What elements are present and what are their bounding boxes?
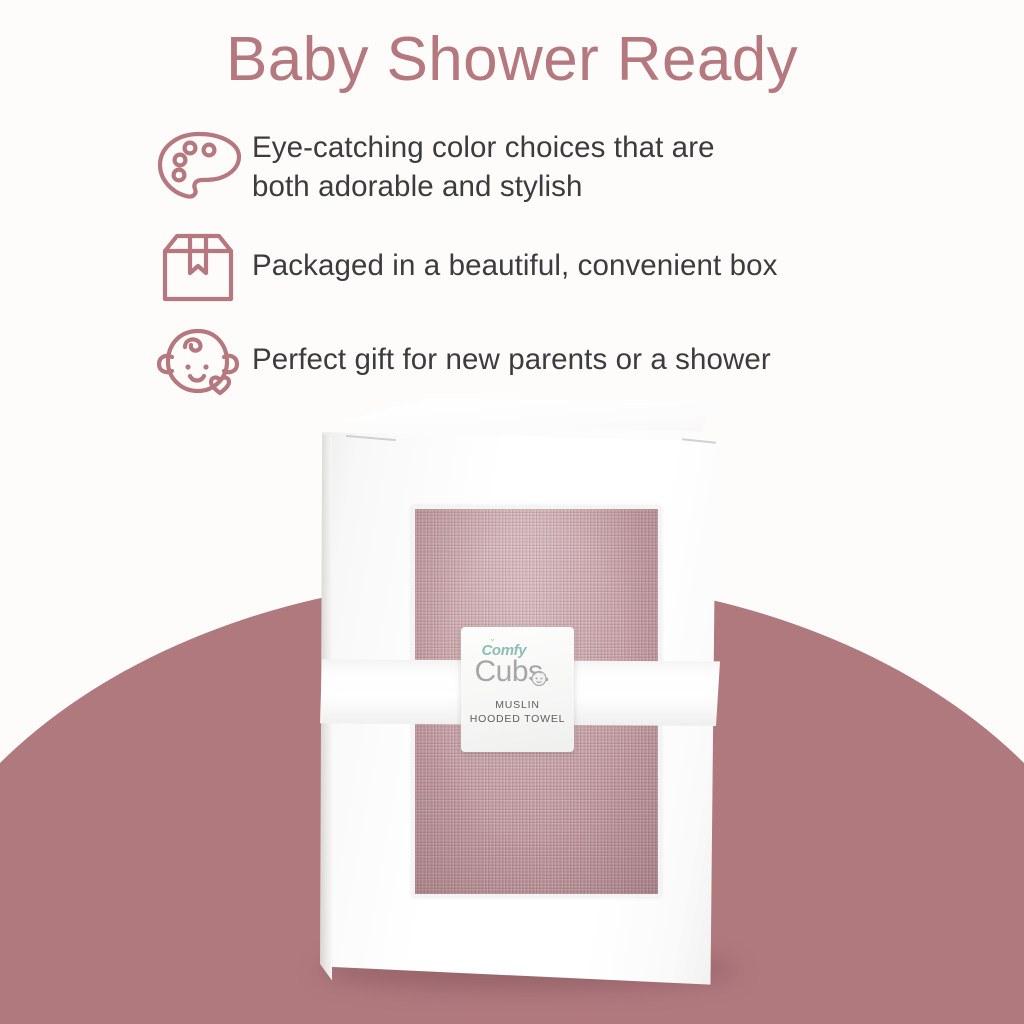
feature-line-2: both adorable and stylish <box>252 167 938 206</box>
feature-line-1: Perfect gift for new parents or a shower <box>252 343 771 376</box>
feature-text-color-choices: Eye-catching color choices that are both… <box>252 126 938 206</box>
product-label: ˘Comfy Cubs. MUSLIN HOODED TOWEL <box>461 627 574 752</box>
brand-accent-mark: ˘ <box>491 638 494 648</box>
product-name: MUSLIN HOODED TOWEL <box>470 698 566 726</box>
feature-text-packaging: Packaged in a beautiful, convenient box <box>252 228 938 285</box>
feature-item-packaging: Packaged in a beautiful, convenient box <box>148 228 938 312</box>
feature-item-color-choices: Eye-catching color choices that are both… <box>148 126 938 218</box>
product-marketing-image: Baby Shower Ready Eye-catching color cho… <box>0 0 1024 1024</box>
product-package: ˘Comfy Cubs. MUSLIN HOODED TOWEL <box>300 392 746 992</box>
product-name-line-1: MUSLIN <box>470 698 566 712</box>
brand-logo: ˘Comfy Cubs. <box>470 642 566 694</box>
product-name-line-2: HOODED TOWEL <box>470 712 566 726</box>
brand-baby-face-icon <box>529 670 549 687</box>
baby-face-heart-icon <box>148 322 252 402</box>
feature-text-gift: Perfect gift for new parents or a shower <box>252 322 938 379</box>
feature-line-1: Eye-catching color choices that are <box>252 131 715 164</box>
paint-palette-icon <box>148 126 252 206</box>
package-box-icon <box>148 228 252 308</box>
feature-list: Eye-catching color choices that are both… <box>148 126 938 414</box>
page-title: Baby Shower Ready <box>0 24 1024 95</box>
feature-line-1: Packaged in a beautiful, convenient box <box>252 249 777 282</box>
